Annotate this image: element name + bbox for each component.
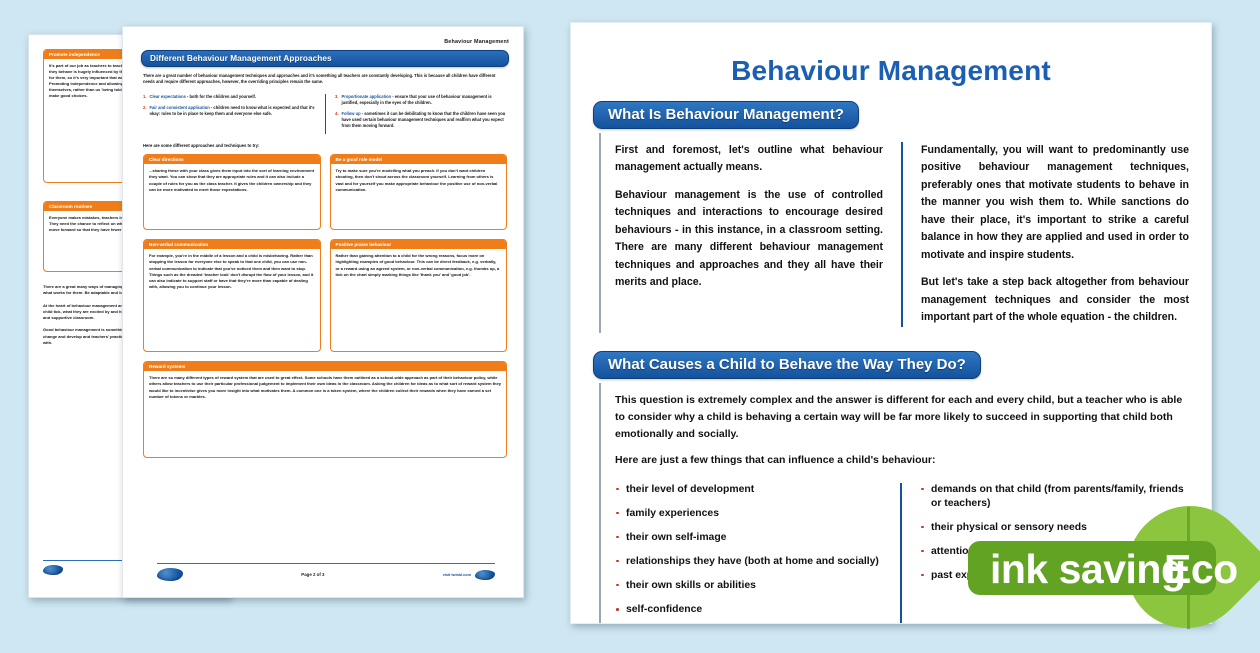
section-what-is-behaviour-management: What Is Behaviour Management? First and … [593,101,1189,333]
section-heading-bar: Different Behaviour Management Approache… [141,50,509,67]
bullet-column-right: demands on that child (from parents/fami… [900,483,1189,624]
running-header: Behaviour Management [141,39,509,45]
item-number: 2. [143,105,147,117]
orange-box-title: Be a good role model [331,155,507,164]
numbered-item: 4. Follow up - sometimes it can be debil… [335,111,507,129]
item-number: 4. [335,111,339,129]
list-item: self-confidence [615,603,884,617]
two-column-layout: First and foremost, let's outline what b… [615,142,1189,327]
item-number: 3. [335,94,339,106]
list-item: their own skills or abilities [615,579,884,593]
orange-callout-box: Non-verbal communication For example, yo… [143,239,321,352]
numbered-column-right: 3. Proportionate application - ensure th… [325,94,507,135]
paragraph: First and foremost, let's outline what b… [615,142,883,177]
orange-box-title: Non-verbal communication [144,240,320,249]
footer-right-group: visit twinkl.com [443,570,495,580]
page-number: Page 2 of 3 [301,572,324,577]
numbered-column-left: 1. Clear expectations - both for the chi… [143,94,315,135]
item-lead: Follow up [342,111,361,116]
list-item: relationships they have (both at home an… [615,555,884,569]
orange-box-body: Try to make sure you're modelling what y… [331,164,507,229]
document-page-front[interactable]: Behaviour Management What Is Behaviour M… [570,22,1212,624]
orange-box-title: Reward systems [144,362,506,371]
paragraph: Here are just a few things that can infl… [615,452,1189,469]
footer-row: Page 2 of 3 visit twinkl.com [157,568,495,581]
numbered-item: 3. Proportionate application - ensure th… [335,94,507,106]
orange-box-title: Positive praise behaviour [331,240,507,249]
paragraph: Behaviour management is the use of contr… [615,187,883,292]
intro-paragraph: There are a great number of behaviour ma… [143,73,507,86]
bullet-two-column: their level of development family experi… [615,483,1189,624]
item-lead: Proportionate application [342,94,392,99]
approaches-subheading: Here are some different approaches and t… [143,143,507,148]
item-text: Proportionate application - ensure that … [342,94,508,106]
middle-page-content: Behaviour Management Different Behaviour… [141,39,509,597]
list-item: attention [920,545,1189,559]
paragraph: This question is extremely complex and t… [615,392,1189,443]
page-footer: Page 2 of 3 visit twinkl.com [157,563,495,581]
list-item: demands on that child (from parents/fami… [920,483,1189,511]
numbered-item: 2. Fair and consistent application - chi… [143,105,315,117]
orange-box-body: There are so many different types of rew… [144,371,506,457]
item-lead: Clear expectations [150,94,186,99]
screenshot-stage: Promote independence It's part of our jo… [0,0,1260,630]
numbered-item: 1. Clear expectations - both for the chi… [143,94,315,100]
orange-box-body: Rather than gaining attention to a child… [331,249,507,351]
approach-boxes-row-1: Clear directions ...sharing these with y… [143,154,507,239]
footer-rule [157,563,495,564]
section-heading-bar: What Causes a Child to Behave the Way Th… [593,351,981,379]
item-text: Fair and consistent application - childr… [150,105,316,117]
orange-box-body: ...sharing these with your class gives t… [144,164,320,229]
item-lead: Fair and consistent application [150,105,210,110]
reward-systems-box: Reward systems There are so many differe… [143,361,507,458]
paragraph: Fundamentally, you will want to predomin… [921,142,1189,264]
twinkl-logo-icon-secondary[interactable] [475,570,495,580]
item-text: Follow up - sometimes it can be debilita… [342,111,508,129]
twinkl-logo-icon [43,565,63,575]
approach-boxes-row-2: Non-verbal communication For example, yo… [143,239,507,361]
orange-callout-box: Clear directions ...sharing these with y… [143,154,321,230]
paragraph: But let's take a step back altogether fr… [921,274,1189,326]
orange-box-title: Clear directions [144,155,320,164]
document-page-middle[interactable]: Behaviour Management Different Behaviour… [122,26,524,598]
item-rest: - sometimes it can be debilitating to kn… [342,111,506,128]
orange-callout-box: Be a good role model Try to make sure yo… [330,154,508,230]
bullet-column-left: their level of development family experi… [615,483,900,624]
bullet-list: their level of development family experi… [615,483,884,617]
orange-box-body: For example, you're in the middle of a l… [144,249,320,351]
bullet-list: demands on that child (from parents/fami… [920,483,1189,583]
item-text: Clear expectations - both for the childr… [150,94,256,100]
page-title: Behaviour Management [593,55,1189,87]
list-item: their physical or sensory needs [920,521,1189,535]
numbered-principles-grid: 1. Clear expectations - both for the chi… [143,94,507,135]
column-left: First and foremost, let's outline what b… [615,142,901,327]
list-item: past experiences [920,569,1189,583]
section-what-causes-a-child-to-behave: What Causes a Child to Behave the Way Th… [593,351,1189,624]
footer-url[interactable]: visit twinkl.com [443,573,471,577]
section-body: First and foremost, let's outline what b… [599,133,1189,333]
orange-callout-box: Positive praise behaviour Rather than ga… [330,239,508,352]
section-heading-bar: What Is Behaviour Management? [593,101,859,129]
section-body: This question is extremely complex and t… [599,383,1189,624]
list-item: their own self-image [615,531,884,545]
list-item: family experiences [615,507,884,521]
item-rest: - both for the children and yourself. [186,94,256,99]
list-item: their level of development [615,483,884,497]
front-page-content: Behaviour Management What Is Behaviour M… [593,41,1189,623]
column-right: Fundamentally, you will want to predomin… [901,142,1189,327]
twinkl-logo-icon[interactable] [157,568,183,581]
item-number: 1. [143,94,147,100]
